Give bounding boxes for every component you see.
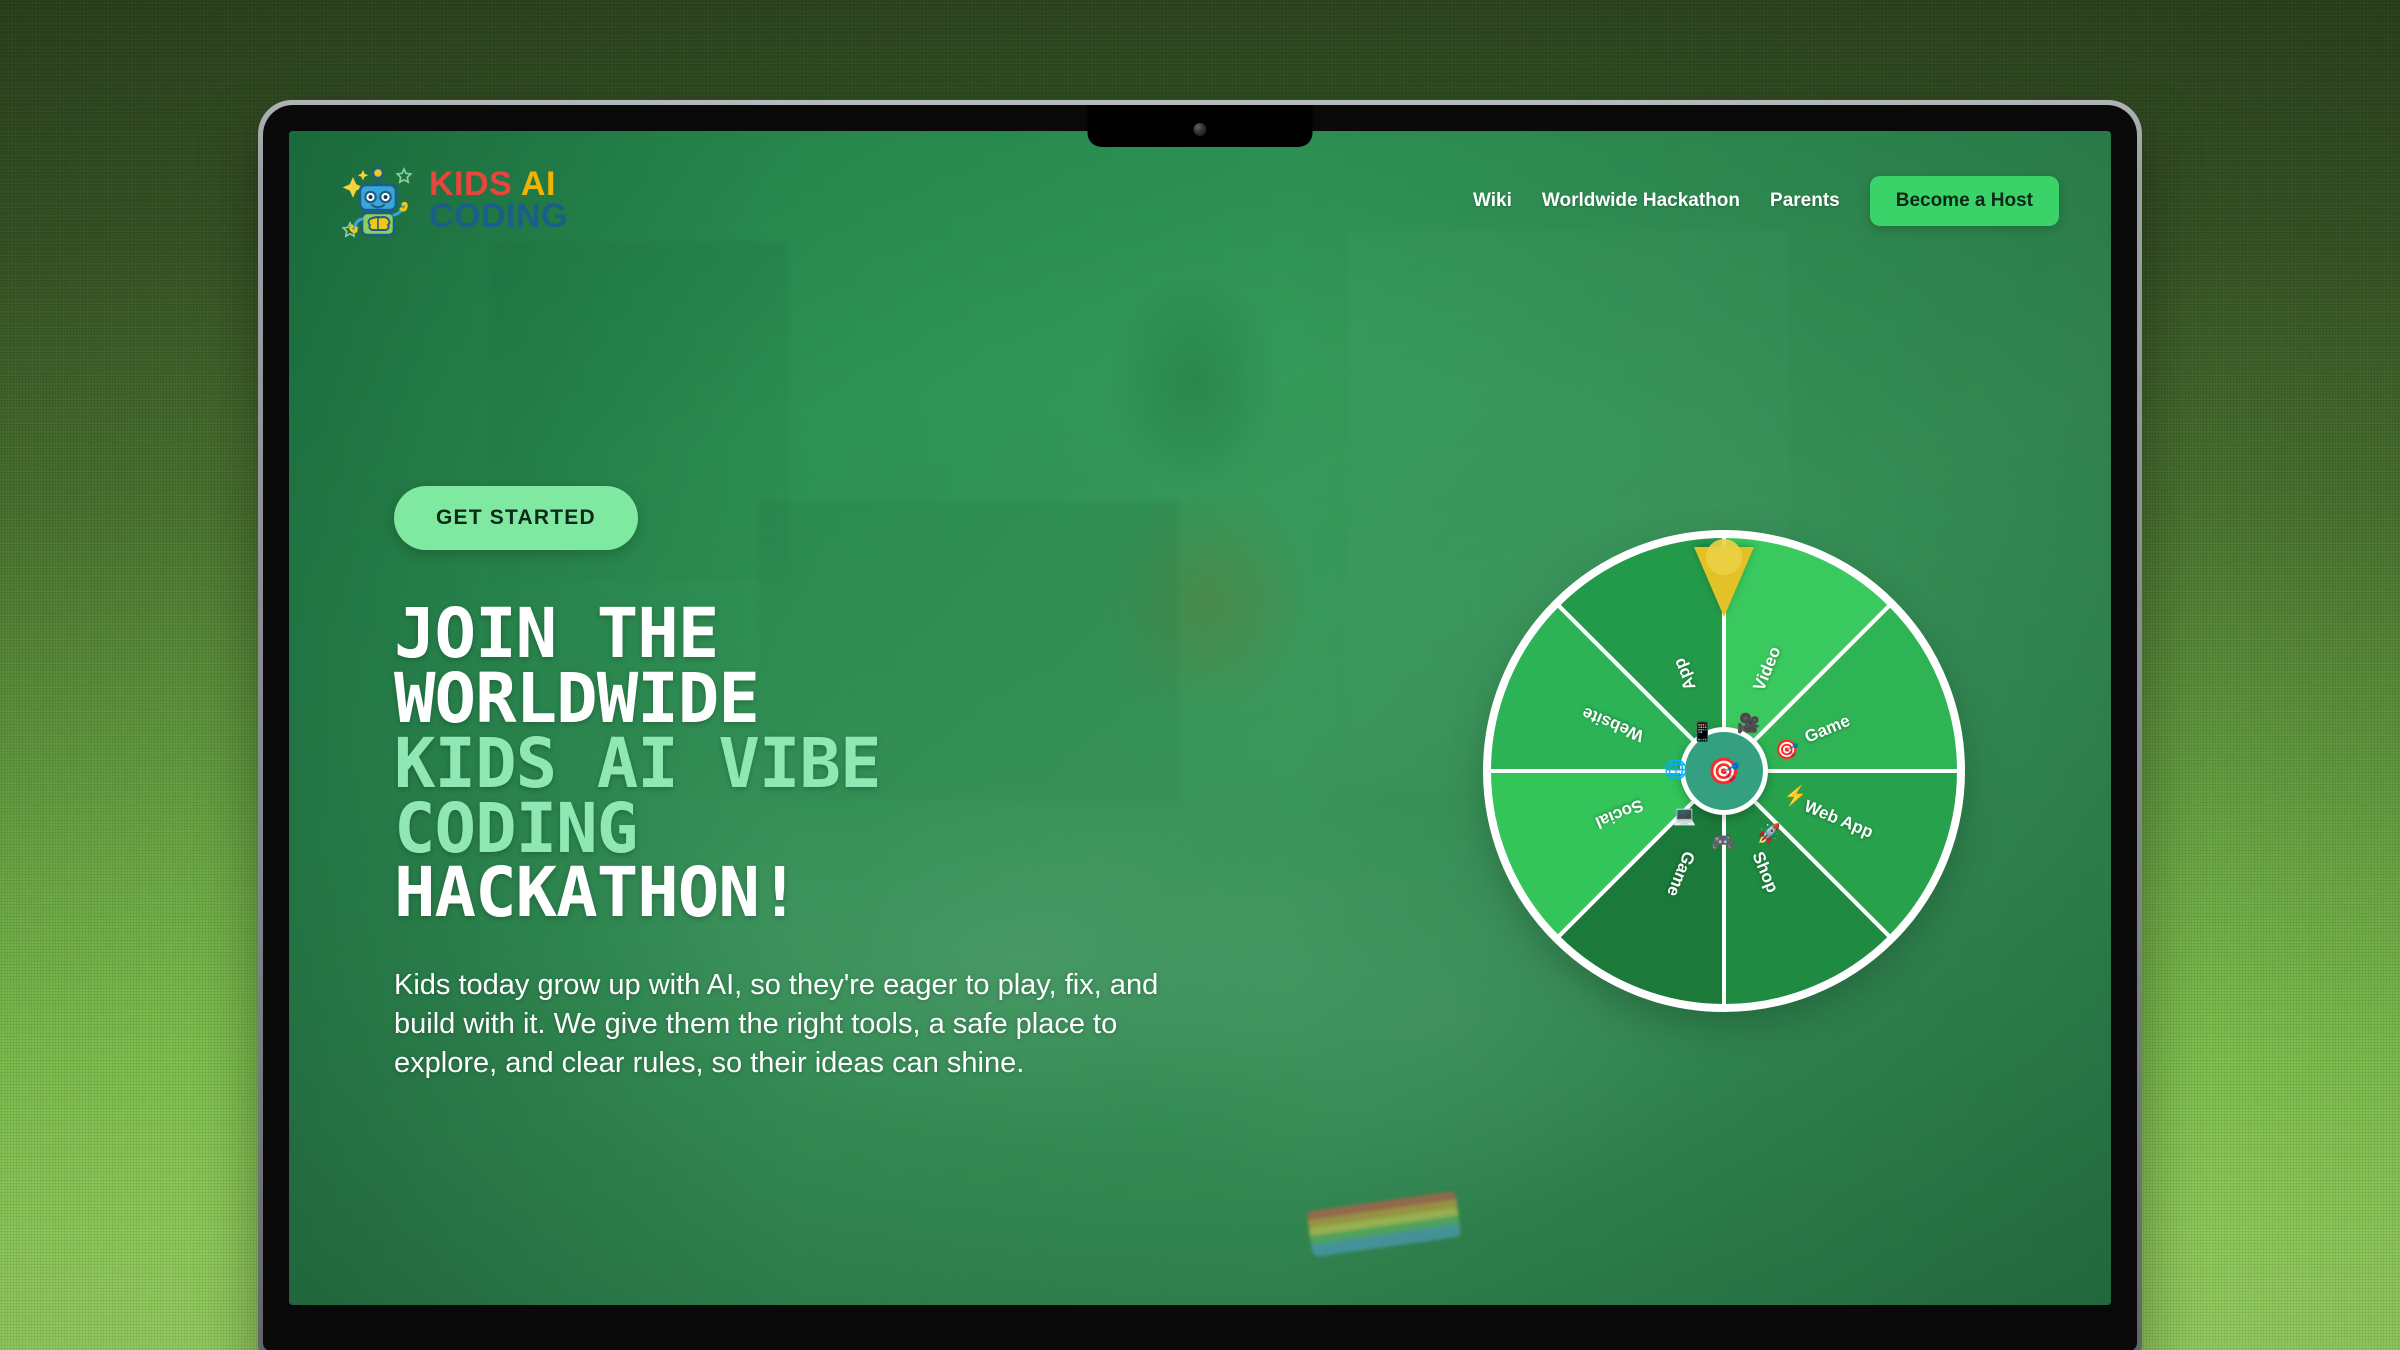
camera-dot-icon bbox=[1194, 123, 1207, 136]
headline-line-4: CODING bbox=[394, 797, 1294, 862]
spin-wheel[interactable]: 🎯 Game🎮Social💻Website🌐App📱Video🎥Game🎯Web… bbox=[1474, 521, 1974, 1021]
page-title: JOIN THEWORLDWIDEKIDS AI VIBECODINGHACKA… bbox=[394, 602, 1294, 926]
get-started-button[interactable]: GET STARTED bbox=[394, 486, 638, 550]
headline-line-5: HACKATHON! bbox=[394, 861, 1294, 926]
headline-line-1: JOIN THE bbox=[394, 602, 1294, 667]
headline-line-3: KIDS AI VIBE bbox=[394, 732, 1294, 797]
site-header: KIDS AI CODING Wiki Worldwide Hackathon … bbox=[289, 131, 2111, 271]
hero-paragraph: Kids today grow up with AI, so they're e… bbox=[394, 966, 1194, 1083]
screen: KIDS AI CODING Wiki Worldwide Hackathon … bbox=[289, 131, 2111, 1305]
headline-line-2: WORLDWIDE bbox=[394, 667, 1294, 732]
nav-link-parents[interactable]: Parents bbox=[1770, 190, 1840, 212]
nav-link-worldwide-hackathon[interactable]: Worldwide Hackathon bbox=[1542, 190, 1740, 212]
wheel-hub[interactable]: 🎯 bbox=[1680, 727, 1768, 815]
pointer-knob bbox=[1706, 539, 1742, 575]
brand-coding-text: CODING bbox=[429, 201, 568, 233]
brand-wordmark: KIDS AI CODING bbox=[429, 169, 568, 233]
nav-link-wiki[interactable]: Wiki bbox=[1473, 190, 1512, 212]
brand-logo[interactable]: KIDS AI CODING bbox=[341, 161, 568, 241]
hero-section: GET STARTED JOIN THEWORLDWIDEKIDS AI VIB… bbox=[289, 131, 2111, 1305]
main-navigation: Wiki Worldwide Hackathon Parents Become … bbox=[1473, 176, 2059, 226]
laptop-device: KIDS AI CODING Wiki Worldwide Hackathon … bbox=[258, 100, 2142, 1350]
page-root: KIDS AI CODING Wiki Worldwide Hackathon … bbox=[0, 0, 2400, 1350]
laptop-bezel: KIDS AI CODING Wiki Worldwide Hackathon … bbox=[263, 105, 2137, 1350]
robot-icon bbox=[341, 161, 415, 241]
become-a-host-button[interactable]: Become a Host bbox=[1870, 176, 2059, 226]
hero-text-column: GET STARTED JOIN THEWORLDWIDEKIDS AI VIB… bbox=[394, 486, 1294, 1083]
